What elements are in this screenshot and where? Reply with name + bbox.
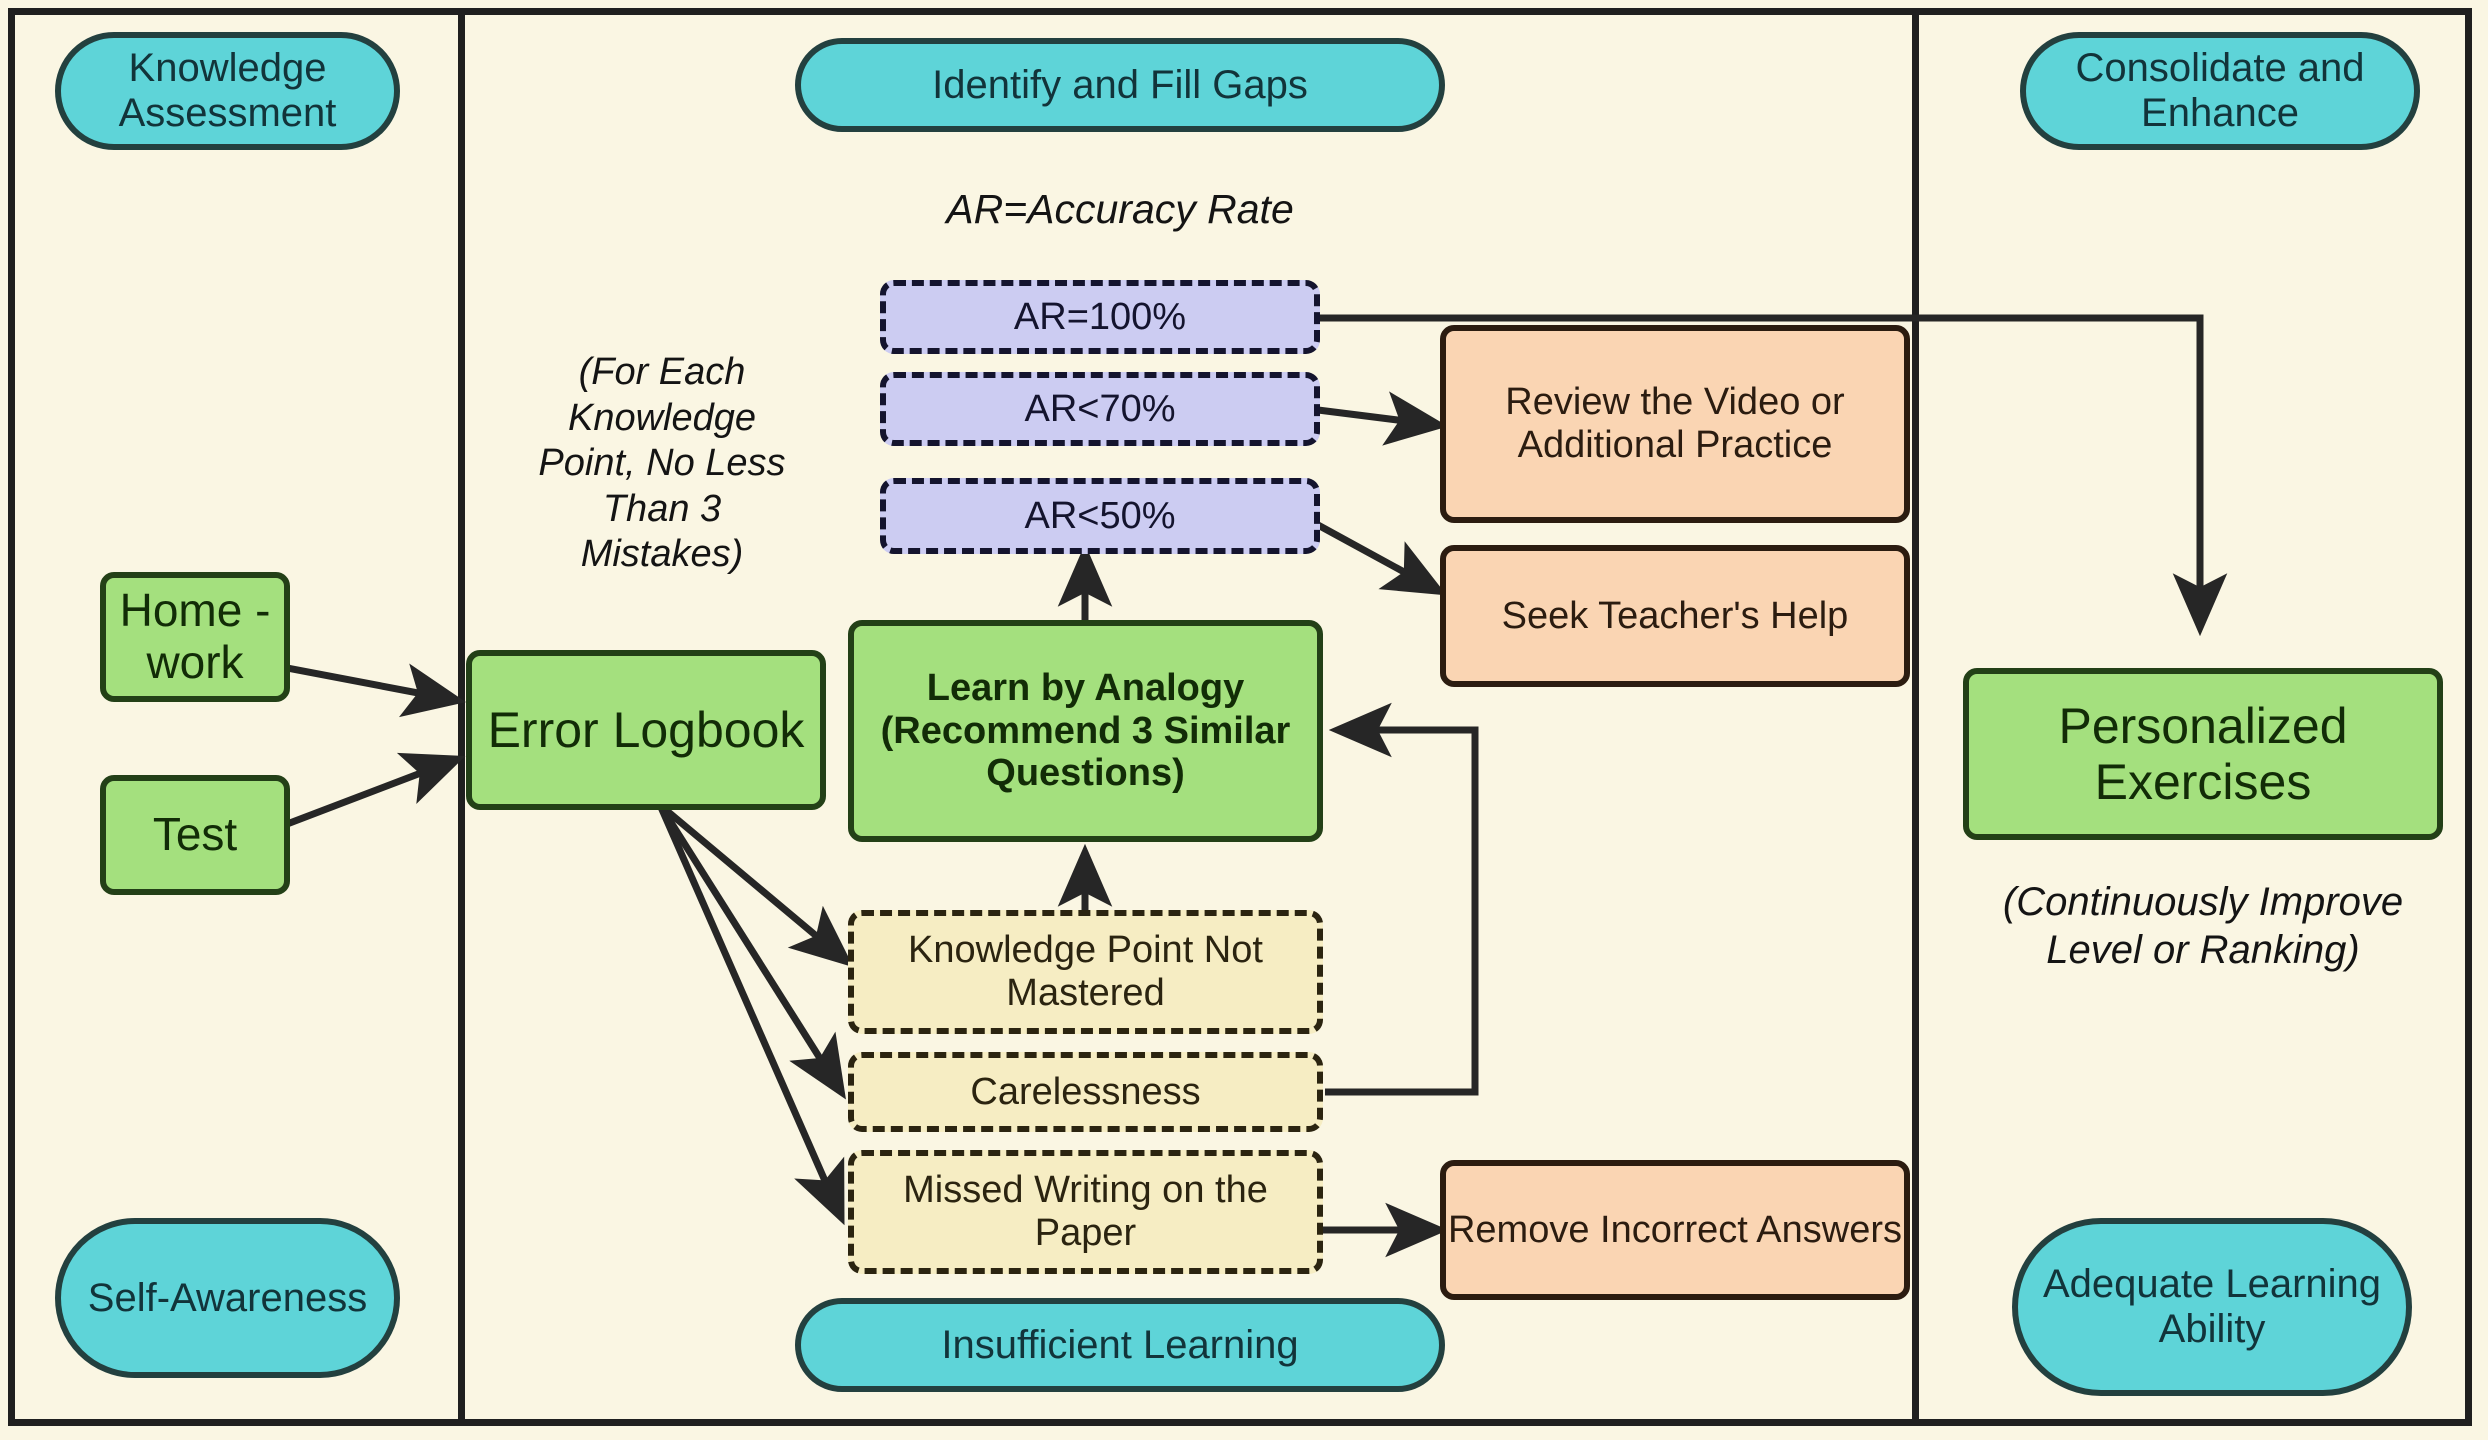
node-knowledge-point-not-mastered-label: Knowledge Point Not Mastered xyxy=(854,929,1317,1014)
node-seek-teachers-help-label: Seek Teacher's Help xyxy=(1502,595,1849,638)
node-error-logbook-label: Error Logbook xyxy=(488,702,805,758)
node-personalized-exercises[interactable]: Personalized Exercises xyxy=(1963,668,2443,840)
node-ar-70-label: AR<70% xyxy=(1024,388,1175,431)
header-consolidate-and-enhance-label: Consolidate and Enhance xyxy=(2026,46,2414,136)
column-divider-left xyxy=(458,8,465,1426)
note-error-logbook: (For Each Knowledge Point, No Less Than … xyxy=(532,350,792,578)
column-divider-right xyxy=(1912,8,1919,1426)
header-consolidate-and-enhance: Consolidate and Enhance xyxy=(2020,32,2420,150)
header-identify-and-fill-gaps: Identify and Fill Gaps xyxy=(795,38,1445,132)
note-personalized-exercises-label: (Continuously Improve Level or Ranking) xyxy=(2003,880,2403,972)
footer-insufficient-learning-label: Insufficient Learning xyxy=(941,1323,1298,1368)
node-test-label: Test xyxy=(153,809,237,861)
node-ar-50[interactable]: AR<50% xyxy=(880,478,1320,554)
legend-accuracy-rate: AR=Accuracy Rate xyxy=(795,185,1445,234)
node-missed-writing-on-the-paper[interactable]: Missed Writing on the Paper xyxy=(848,1150,1323,1274)
node-homework-label: Home -work xyxy=(106,585,284,688)
node-ar-100[interactable]: AR=100% xyxy=(880,280,1320,354)
node-personalized-exercises-label: Personalized Exercises xyxy=(1969,698,2437,810)
node-review-the-video[interactable]: Review the Video or Additional Practice xyxy=(1440,325,1910,523)
node-remove-incorrect-answers-label: Remove Incorrect Answers xyxy=(1448,1209,1902,1252)
node-ar-70[interactable]: AR<70% xyxy=(880,372,1320,446)
legend-accuracy-rate-label: AR=Accuracy Rate xyxy=(946,186,1294,232)
node-seek-teachers-help[interactable]: Seek Teacher's Help xyxy=(1440,545,1910,687)
footer-adequate-learning-ability: Adequate Learning Ability xyxy=(2012,1218,2412,1396)
node-review-the-video-label: Review the Video or Additional Practice xyxy=(1446,381,1904,466)
diagram-canvas: Knowledge Assessment Home -work Test Sel… xyxy=(0,0,2488,1440)
note-error-logbook-label: (For Each Knowledge Point, No Less Than … xyxy=(538,351,785,575)
header-knowledge-assessment-label: Knowledge Assessment xyxy=(61,46,394,136)
note-personalized-exercises: (Continuously Improve Level or Ranking) xyxy=(1963,878,2443,974)
node-missed-writing-on-the-paper-label: Missed Writing on the Paper xyxy=(854,1169,1317,1254)
node-carelessness[interactable]: Carelessness xyxy=(848,1052,1323,1132)
node-test[interactable]: Test xyxy=(100,775,290,895)
header-knowledge-assessment: Knowledge Assessment xyxy=(55,32,400,150)
node-learn-by-analogy[interactable]: Learn by Analogy (Recommend 3 Similar Qu… xyxy=(848,620,1323,842)
node-knowledge-point-not-mastered[interactable]: Knowledge Point Not Mastered xyxy=(848,910,1323,1034)
node-ar-50-label: AR<50% xyxy=(1024,495,1175,538)
node-ar-100-label: AR=100% xyxy=(1014,296,1186,339)
node-remove-incorrect-answers[interactable]: Remove Incorrect Answers xyxy=(1440,1160,1910,1300)
node-learn-by-analogy-label: Learn by Analogy (Recommend 3 Similar Qu… xyxy=(854,667,1317,795)
node-error-logbook[interactable]: Error Logbook xyxy=(466,650,826,810)
footer-self-awareness-label: Self-Awareness xyxy=(88,1276,367,1321)
node-homework[interactable]: Home -work xyxy=(100,572,290,702)
footer-adequate-learning-ability-label: Adequate Learning Ability xyxy=(2018,1262,2406,1352)
footer-self-awareness: Self-Awareness xyxy=(55,1218,400,1378)
header-identify-and-fill-gaps-label: Identify and Fill Gaps xyxy=(932,63,1308,108)
node-carelessness-label: Carelessness xyxy=(970,1071,1200,1114)
footer-insufficient-learning: Insufficient Learning xyxy=(795,1298,1445,1392)
